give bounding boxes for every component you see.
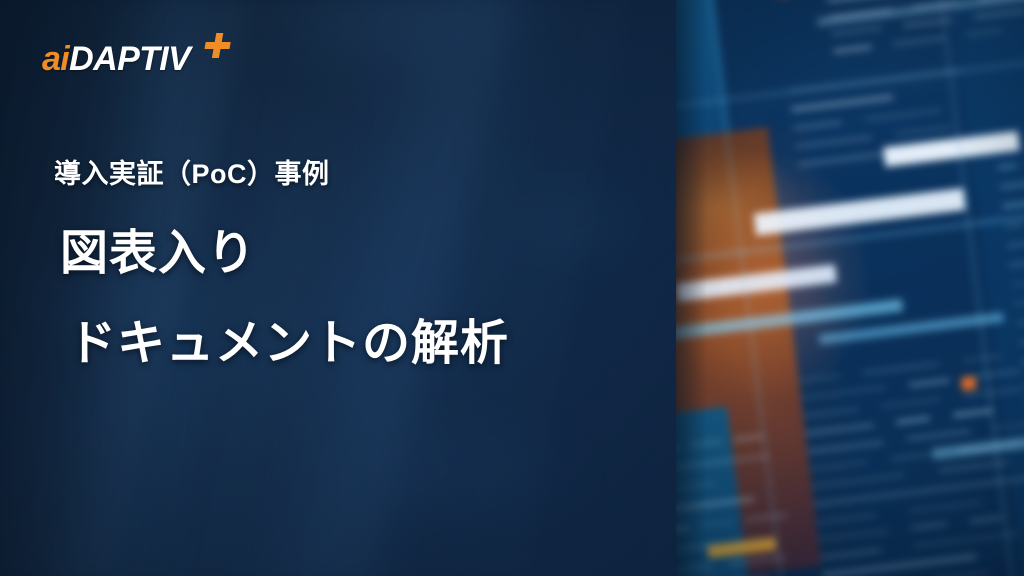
page-title-line-1: 図表入り <box>54 230 509 278</box>
logo-text-ai: ai <box>42 40 69 78</box>
aidaptiv-logo: aiDAPTIV <box>42 33 242 79</box>
plus-icon <box>203 33 234 59</box>
page-title: 図表入り ドキュメントの解析 <box>54 230 509 368</box>
logo-text-daptiv: DAPTIV <box>69 40 190 78</box>
page-title-line-2: ドキュメントの解析 <box>54 320 509 368</box>
title-panel: aiDAPTIV 導入実証（PoC）事例 図表入り ドキュメントの解析 <box>0 0 676 576</box>
presentation-slide: aiDAPTIV 導入実証（PoC）事例 図表入り ドキュメントの解析 <box>0 0 1024 576</box>
slide-eyebrow: 導入実証（PoC）事例 <box>54 158 330 190</box>
logo-wordmark: aiDAPTIV <box>42 42 190 76</box>
hero-photo-vignette <box>676 0 1024 576</box>
hero-photo <box>676 0 1024 576</box>
